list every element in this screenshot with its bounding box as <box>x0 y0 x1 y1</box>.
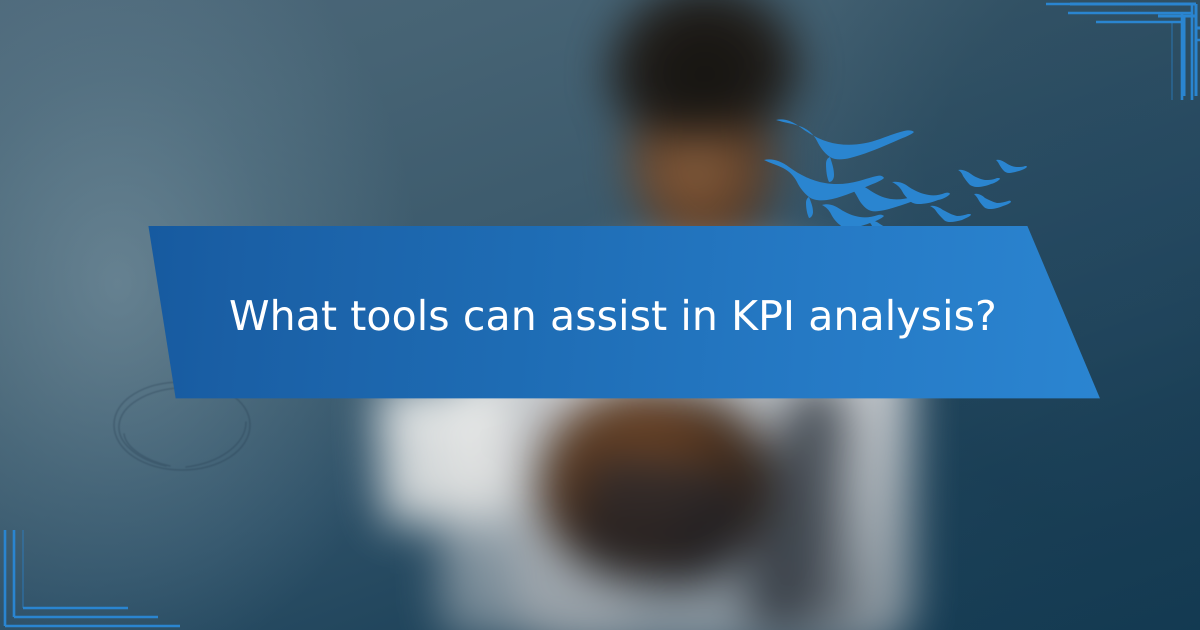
flying-birds-flock-icon <box>762 108 1030 240</box>
person-phone <box>572 449 749 600</box>
corner-lines-top-right-detail <box>1022 0 1200 100</box>
person-paper <box>376 379 515 526</box>
headline-banner: What tools can assist in KPI analysis? <box>96 222 1104 402</box>
corner-lines-bottom-left-icon <box>0 530 200 630</box>
banner-canvas: What tools can assist in KPI analysis? <box>0 0 1200 630</box>
page-title: What tools can assist in KPI analysis? <box>229 293 997 340</box>
